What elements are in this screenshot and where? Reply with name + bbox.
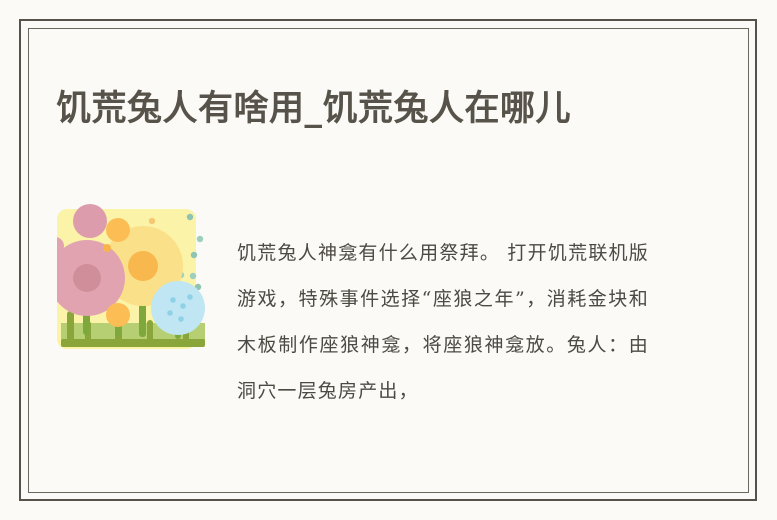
article-body-text: 饥荒兔人神龛有什么用祭拜。 打开饥荒联机版游戏，特殊事件选择“座狼之年”，消耗金… [237, 230, 649, 414]
flowers-illustration-icon [57, 203, 208, 355]
page-root: 饥荒兔人有啥用_饥荒兔人在哪儿 [0, 0, 777, 520]
page-title: 饥荒兔人有啥用_饥荒兔人在哪儿 [56, 86, 716, 132]
article-thumbnail [57, 203, 208, 355]
